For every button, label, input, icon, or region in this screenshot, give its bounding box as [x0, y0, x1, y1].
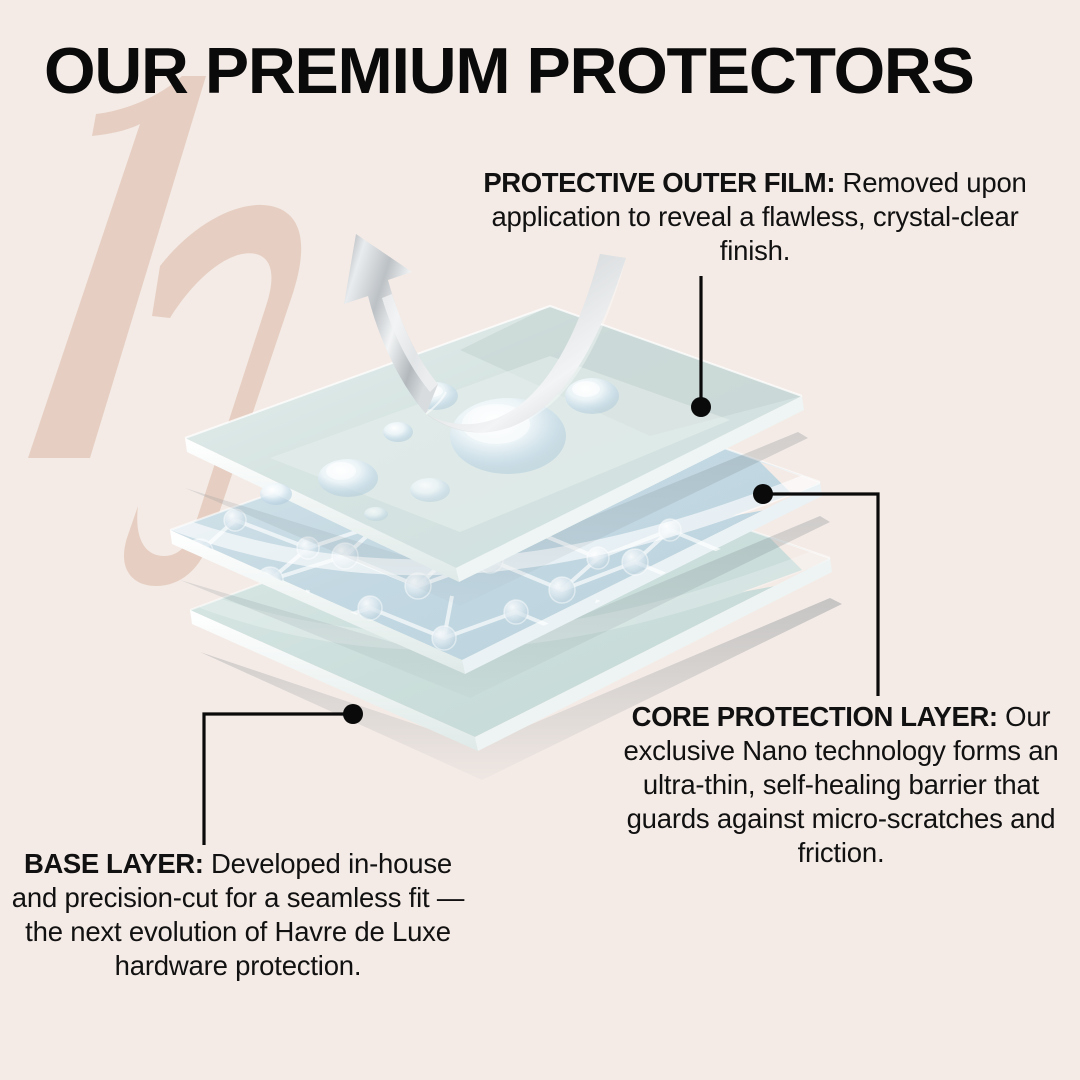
callout-base-layer-heading: BASE LAYER:: [24, 848, 203, 879]
callout-core-layer-heading: CORE PROTECTION LAYER:: [632, 701, 998, 732]
callout-base-layer: BASE LAYER: Developed in-house and preci…: [8, 847, 468, 983]
callout-core-layer: CORE PROTECTION LAYER: Our exclusive Nan…: [608, 700, 1074, 870]
callout-outer-film-heading: PROTECTIVE OUTER FILM:: [483, 167, 835, 198]
page-title: OUR PREMIUM PROTECTORS: [44, 36, 1064, 106]
infographic-canvas: OUR PREMIUM PROTECTORS PROTECTIVE OUTER …: [0, 0, 1080, 1080]
callout-outer-film: PROTECTIVE OUTER FILM: Removed upon appl…: [455, 166, 1055, 268]
